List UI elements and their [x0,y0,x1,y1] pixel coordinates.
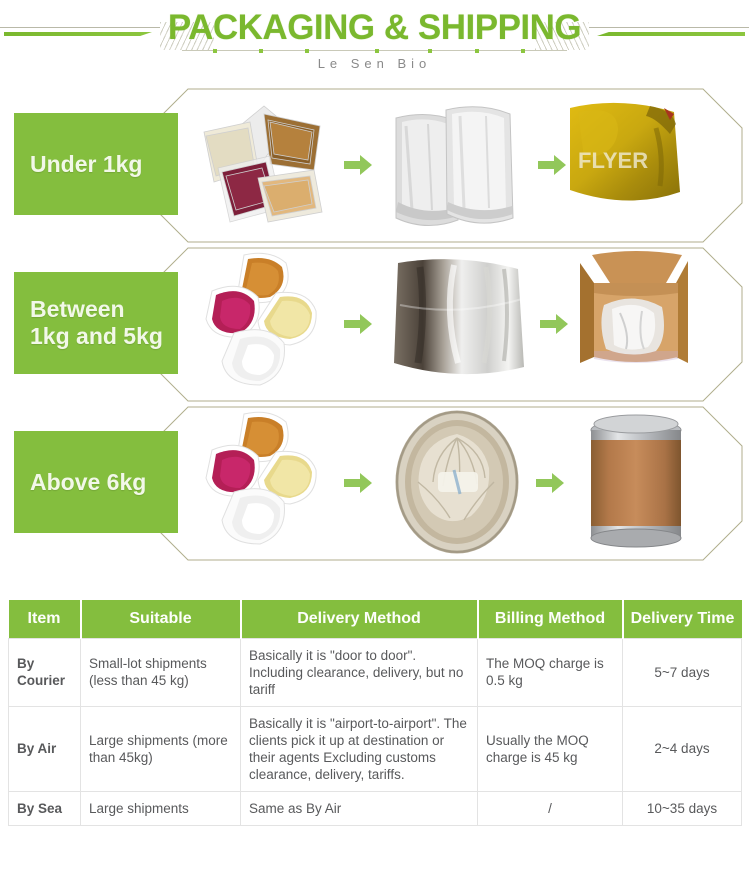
packaging-row-under-1kg: Under 1kg [0,86,749,245]
banner-header: PACKAGING & SHIPPING Le Sen Bio [0,0,749,86]
cell-delivery-method: Basically it is "door to door". Includin… [241,638,478,706]
cell-suitable: Small-lot shipments (less than 45 kg) [81,638,241,706]
dot-marker [475,49,479,53]
stage-gold-flyer-bag: FLYER [564,86,694,245]
row-label-line1: Between [30,296,125,322]
stage-open-carton [564,245,710,404]
table-row: By Sea Large shipments Same as By Air / … [9,791,742,825]
cell-item: By Sea [9,791,81,825]
svg-text:FLYER: FLYER [578,148,648,173]
row-label-1kg-5kg: Between 1kg and 5kg [14,272,178,374]
dot-marker [375,49,379,53]
packaging-shipping-banner: PACKAGING & SHIPPING Le Sen Bio Under 1k… [0,0,749,893]
dot-marker [213,49,217,53]
dot-marker [428,49,432,53]
row-label-above-6kg: Above 6kg [14,431,178,533]
packaging-rows: Under 1kg [0,86,749,563]
dot-marker [521,49,525,53]
row-label-text: Under 1kg [30,151,142,178]
column-header-delivery-time: Delivery Time [623,600,742,638]
column-header-delivery-method: Delivery Method [241,600,478,638]
cell-item: By Air [9,706,81,791]
arrow-right-icon [344,154,372,176]
brand-subtitle: Le Sen Bio [0,56,749,71]
cell-suitable: Large shipments (more than 45kg) [81,706,241,791]
header-dot-rule [182,50,567,51]
cell-item: By Courier [9,638,81,706]
table-header-row: Item Suitable Delivery Method Billing Me… [9,600,742,638]
cell-billing-method: Usually the MOQ charge is 45 kg [478,706,623,791]
cell-delivery-time: 10~35 days [623,791,742,825]
row-label-text: Above 6kg [30,469,146,496]
stage-powder-samples [196,245,340,404]
column-header-suitable: Suitable [81,600,241,638]
cell-delivery-time: 2~4 days [623,706,742,791]
arrow-right-icon [344,313,372,335]
row-label-under-1kg: Under 1kg [14,113,178,215]
row-label-line2: 1kg and 5kg [30,323,163,349]
packaging-row-1kg-5kg: Between 1kg and 5kg [0,245,749,404]
dot-marker [259,49,263,53]
stage-large-foil-bag [380,245,540,404]
stage-lined-open-drum [382,404,532,563]
arrow-right-icon [536,472,564,494]
cell-delivery-method: Same as By Air [241,791,478,825]
column-header-billing-method: Billing Method [478,600,623,638]
dot-marker [305,49,309,53]
column-header-item: Item [9,600,81,638]
cell-delivery-time: 5~7 days [623,638,742,706]
arrow-right-icon [538,154,566,176]
page-title: PACKAGING & SHIPPING [0,8,749,48]
stage-loose-sealed-bags [192,86,342,245]
cell-billing-method: The MOQ charge is 0.5 kg [478,638,623,706]
packaging-row-above-6kg: Above 6kg [0,404,749,563]
table-row: By Courier Small-lot shipments (less tha… [9,638,742,706]
cell-billing-method: / [478,791,623,825]
cell-delivery-method: Basically it is "airport-to-airport". Th… [241,706,478,791]
stage-white-pouches [382,86,534,245]
stage-sealed-fiber-drum [576,404,696,563]
arrow-right-icon [344,472,372,494]
shipping-methods-table: Item Suitable Delivery Method Billing Me… [8,600,741,826]
stage-powder-samples [196,404,340,563]
table-row: By Air Large shipments (more than 45kg) … [9,706,742,791]
cell-suitable: Large shipments [81,791,241,825]
